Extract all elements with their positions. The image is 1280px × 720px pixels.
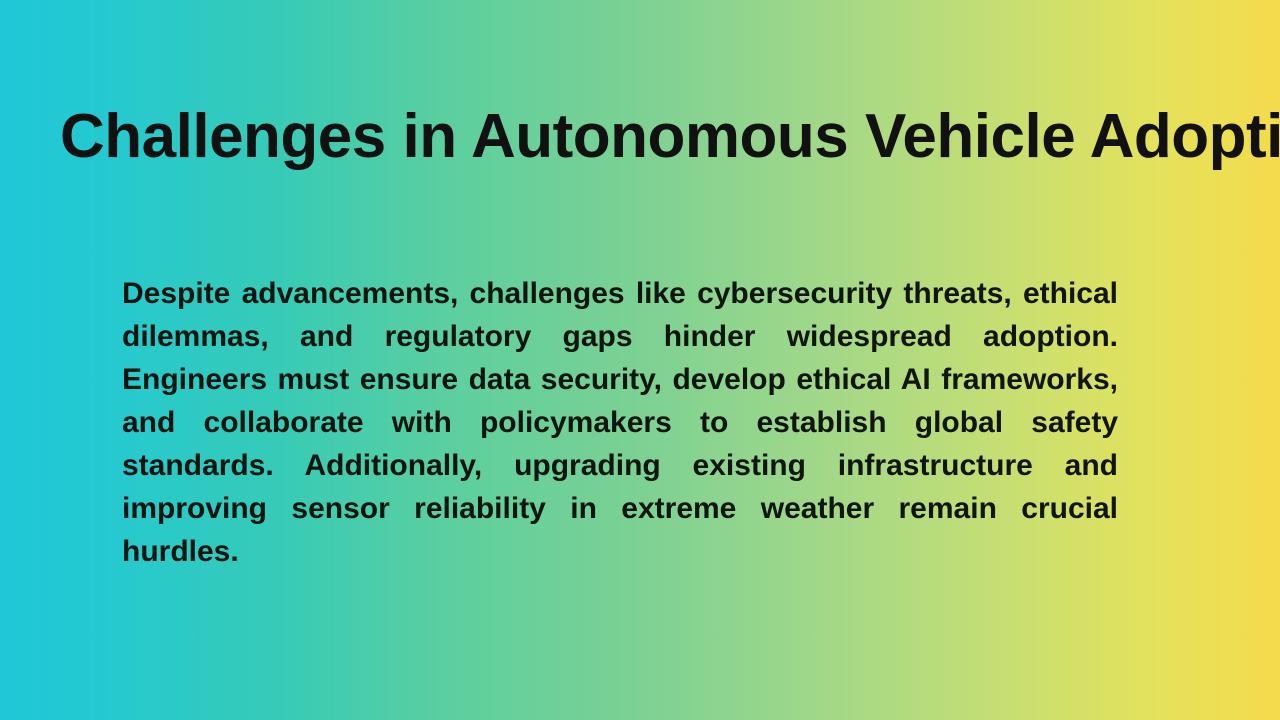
page-title: Challenges in Autonomous Vehicle Adoptio…	[60, 104, 1230, 171]
presentation-slide: Challenges in Autonomous Vehicle Adoptio…	[0, 0, 1280, 720]
slide-body-paragraph: Despite advancements, challenges like cy…	[122, 272, 1118, 573]
